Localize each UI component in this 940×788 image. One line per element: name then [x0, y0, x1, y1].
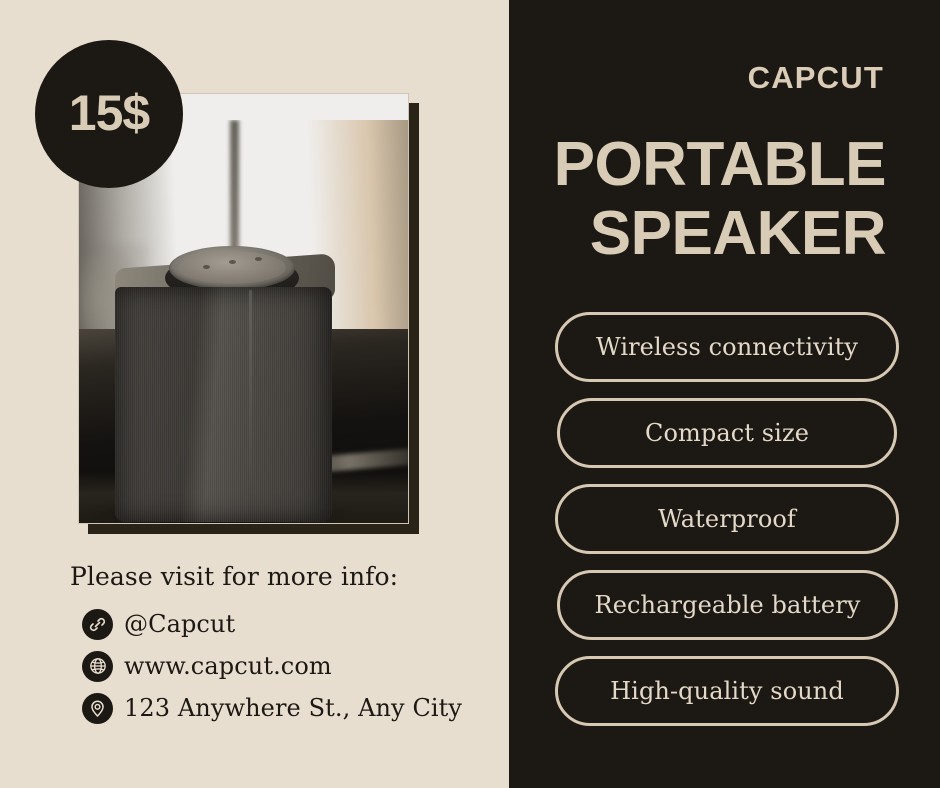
speaker-dial-button-left: [203, 265, 210, 269]
speaker-dial-button-right: [255, 257, 262, 261]
contact-row-website[interactable]: www.capcut.com: [70, 649, 490, 683]
price-badge-label: 15$: [69, 84, 149, 142]
feature-pill-label: High-quality sound: [610, 677, 844, 705]
link-icon: [82, 609, 113, 640]
feature-pill-high-quality-sound[interactable]: High-quality sound: [555, 656, 899, 726]
feature-pill-label: Compact size: [645, 419, 809, 447]
location-pin-icon: [82, 693, 113, 724]
globe-icon: [82, 651, 113, 682]
contact-handle-text: @Capcut: [124, 612, 235, 636]
feature-pill-rechargeable-battery[interactable]: Rechargeable battery: [557, 570, 898, 640]
feature-pill-label: Wireless connectivity: [596, 333, 858, 361]
feature-pill-label: Rechargeable battery: [595, 591, 861, 619]
speaker-dial-led: [229, 260, 236, 264]
contact-row-handle[interactable]: @Capcut: [70, 607, 490, 641]
brand-name: CAPCUT: [554, 62, 884, 93]
feature-pill-label: Waterproof: [658, 505, 796, 533]
speaker-dial-inner: [178, 251, 286, 284]
feature-pill-compact-size[interactable]: Compact size: [557, 398, 897, 468]
page-title: PORTABLE SPEAKER: [546, 130, 886, 269]
headline-line-2: SPEAKER: [546, 199, 886, 268]
contact-block: Please visit for more info: @Capcut: [70, 562, 490, 733]
speaker-fabric-body: [115, 287, 332, 522]
contact-address-text: 123 Anywhere St., Any City: [124, 696, 462, 720]
contact-row-address[interactable]: 123 Anywhere St., Any City: [70, 691, 490, 725]
poster-canvas: CAPCUT PORTABLE SPEAKER Wireless connect…: [0, 0, 940, 788]
feature-pill-waterproof[interactable]: Waterproof: [555, 484, 899, 554]
speaker-corner-edge: [249, 290, 252, 520]
feature-list: Wireless connectivity Compact size Water…: [555, 312, 900, 726]
feature-pill-wireless-connectivity[interactable]: Wireless connectivity: [555, 312, 899, 382]
headline-line-1: PORTABLE: [554, 130, 886, 199]
contact-heading: Please visit for more info:: [70, 562, 490, 591]
contact-website-text: www.capcut.com: [124, 654, 332, 678]
price-badge: 15$: [35, 40, 183, 188]
